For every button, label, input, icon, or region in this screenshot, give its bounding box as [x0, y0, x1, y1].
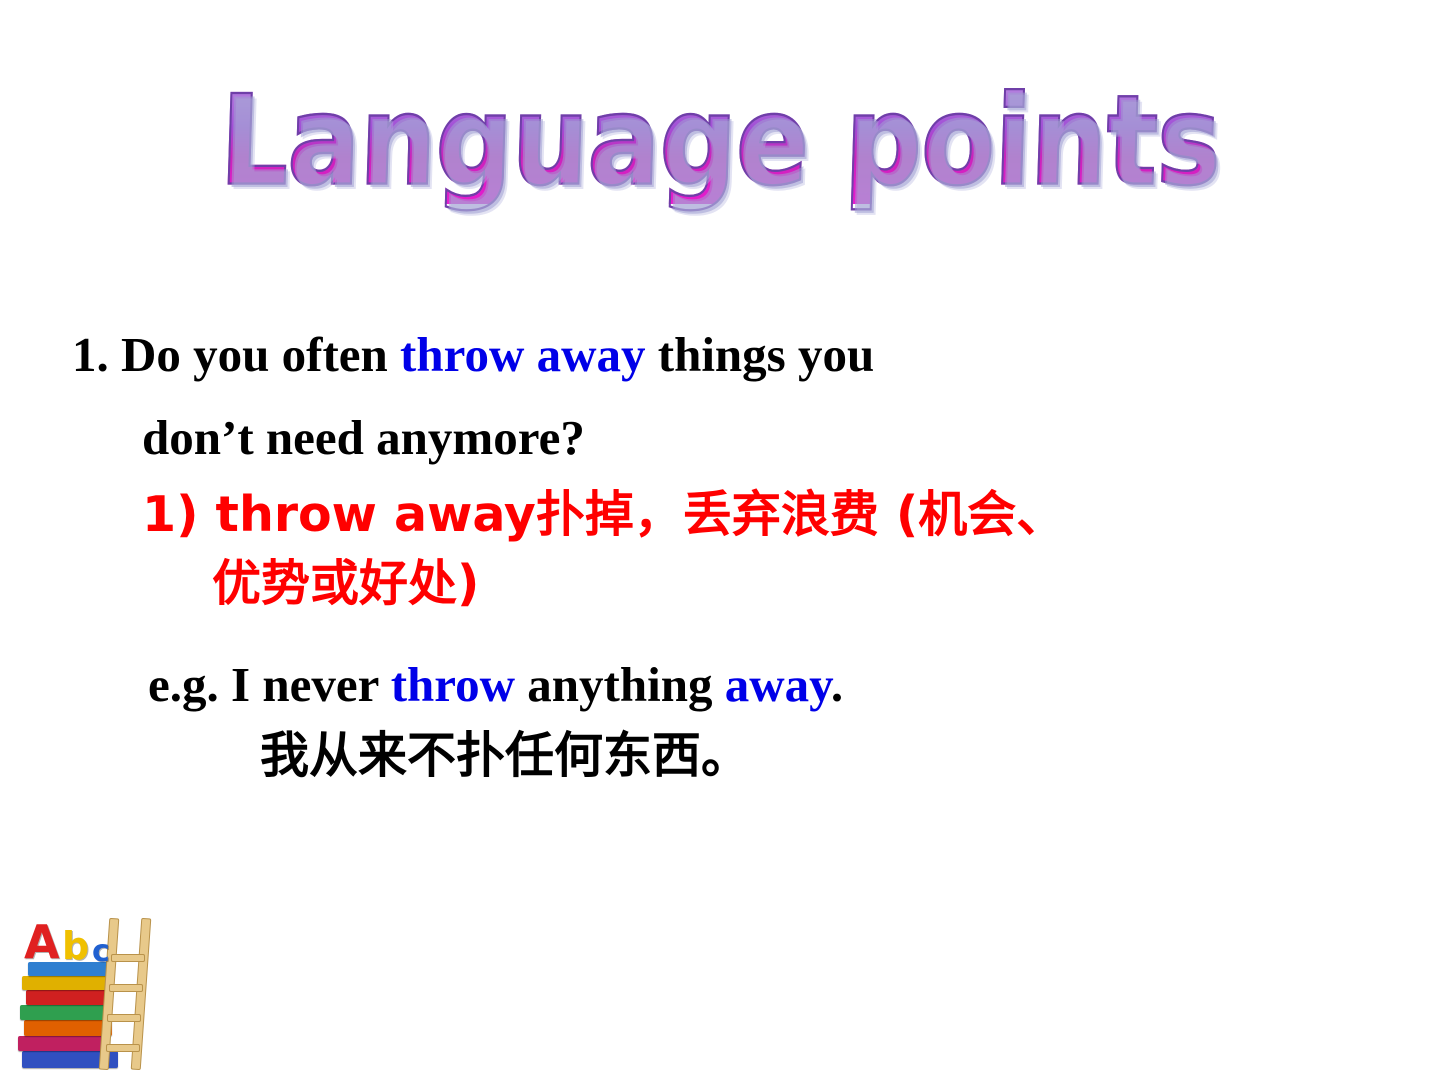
example-line-1: e.g. I never throw anything away. [148, 660, 1390, 709]
phrase-throw-away-highlight: throw away [400, 327, 645, 382]
example-text-e: . [831, 657, 843, 712]
book-icon [18, 1036, 110, 1051]
books-and-ladder-icon: A b c [18, 915, 158, 1070]
ladder-rung-icon [106, 1044, 140, 1052]
slide-title-container: Language points [0, 88, 1440, 196]
example-line-2-translation: 我从来不扑任何东西。 [260, 731, 1390, 780]
book-icon [22, 976, 110, 990]
ladder-rung-icon [109, 984, 143, 992]
example-text-c: anything [515, 657, 725, 712]
note-line-2: 优势或好处) [212, 559, 1390, 608]
item-1-line-2: don’t need anymore? [142, 413, 1390, 462]
item-1-text-a: Do you often [121, 327, 400, 382]
letter-b-icon: b [62, 927, 89, 965]
book-icon [20, 1005, 112, 1020]
word-away-highlight: away [725, 657, 831, 712]
item-1-text-c: things you [646, 327, 875, 382]
book-icon [26, 990, 110, 1005]
item-1-line-1: 1. Do you often throw away things you [72, 330, 1390, 379]
word-throw-highlight: throw [391, 657, 515, 712]
note-line-1: 1) throw away扑掉，丢弃浪费 (机会、 [142, 490, 1390, 539]
ladder-rung-icon [111, 954, 145, 962]
ladder-rung-icon [107, 1014, 141, 1022]
page-title: Language points [218, 80, 1222, 204]
item-1-number: 1. [72, 327, 109, 382]
slide-body: 1. Do you often throw away things you do… [70, 330, 1390, 780]
letter-a-icon: A [24, 919, 60, 965]
example-text-a: e.g. I never [148, 657, 391, 712]
book-icon [24, 1020, 112, 1036]
letter-c-icon: c [92, 937, 110, 967]
